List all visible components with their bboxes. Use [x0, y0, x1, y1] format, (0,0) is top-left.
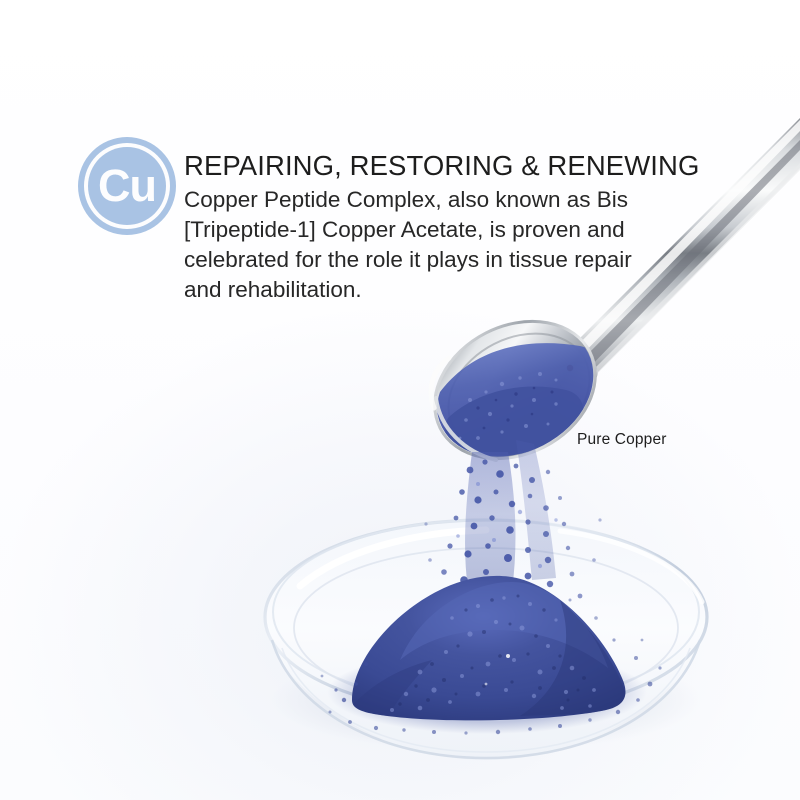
copy-block: REPAIRING, RESTORING & RENEWING Copper P… — [184, 150, 684, 305]
description-paragraph: Copper Peptide Complex, also known as Bi… — [184, 185, 684, 305]
description-line-2: [Tripeptide-1] Copper Acetate, is proven… — [184, 215, 684, 245]
description-line-1: Copper Peptide Complex, also known as Bi… — [184, 185, 684, 215]
page-title: REPAIRING, RESTORING & RENEWING — [184, 150, 684, 182]
background-wash — [0, 0, 800, 800]
product-infographic: Cu REPAIRING, RESTORING & RENEWING Coppe… — [0, 0, 800, 800]
badge-symbol-label: Cu — [88, 147, 166, 225]
description-line-3: celebrated for the role it plays in tiss… — [184, 245, 684, 275]
copper-element-badge: Cu — [78, 137, 176, 235]
description-line-4: and rehabilitation. — [184, 275, 684, 305]
pure-copper-caption: Pure Copper — [577, 431, 667, 449]
